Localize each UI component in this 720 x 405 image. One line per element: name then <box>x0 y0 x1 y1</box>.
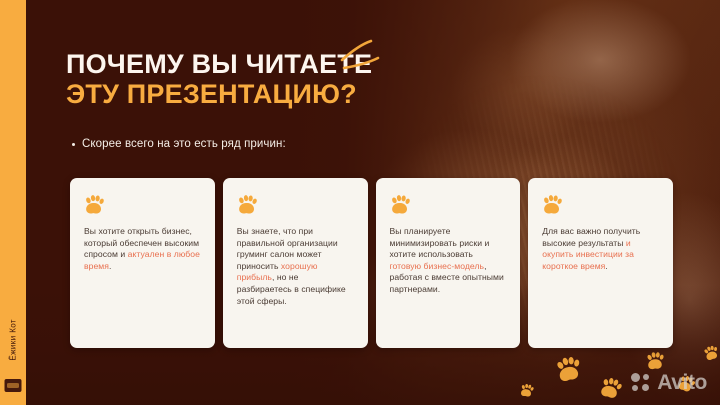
brand-vertical-label: Ёжики Кот <box>9 319 18 361</box>
reason-card-text: Вы знаете, что при правильной организаци… <box>237 226 354 307</box>
reason-card: Вы хотите открыть бизнес, который обеспе… <box>70 178 215 348</box>
reason-card: Для вас важно получить высокие результат… <box>528 178 673 348</box>
paw-print-icon <box>645 351 666 371</box>
reason-card-list: Вы хотите открыть бизнес, который обеспе… <box>70 178 673 348</box>
subtitle-bullet-row: Скорее всего на это есть ряд причин: <box>72 138 286 150</box>
subtitle-text: Скорее всего на это есть ряд причин: <box>82 138 286 150</box>
decorative-paw-print-icon <box>520 384 534 402</box>
presentation-slide: Ёжики Кот ПОЧЕМУ ВЫ ЧИТАЕТЕ ЭТУ ПРЕЗЕНТА… <box>0 0 720 405</box>
paw-print-icon <box>519 383 535 398</box>
paw-print-icon <box>237 195 258 215</box>
left-brand-rail: Ёжики Кот <box>0 0 26 405</box>
reason-card-text: Для вас важно получить высокие результат… <box>542 226 659 272</box>
reason-card-text: Вы планируете минимизировать риски и хот… <box>390 226 507 296</box>
paw-print-icon <box>554 355 585 385</box>
avito-logo-dots-icon <box>631 373 652 392</box>
reason-card: Вы планируете минимизировать риски и хот… <box>376 178 521 348</box>
paw-print-icon <box>598 376 624 402</box>
decorative-paw-print-icon <box>556 357 582 387</box>
avito-watermark: Avito <box>631 373 707 392</box>
headline-line-1: ПОЧЕМУ ВЫ ЧИТАЕТЕ <box>66 49 372 79</box>
paw-print-icon <box>84 195 105 215</box>
decorative-paw-print-icon <box>600 378 622 404</box>
paw-print-icon <box>390 195 411 215</box>
reason-card-text: Вы хотите открыть бизнес, который обеспе… <box>84 226 201 272</box>
reason-card-highlight: готовую бизнес-модель <box>390 261 485 271</box>
headline-line-2: ЭТУ ПРЕЗЕНТАЦИЮ? <box>66 79 372 109</box>
paw-print-icon <box>542 195 563 215</box>
avito-wordmark: Avito <box>657 373 707 392</box>
paw-print-icon <box>702 344 720 362</box>
reason-card-plain: . <box>605 261 607 271</box>
brand-mark-icon <box>5 379 22 392</box>
bullet-dot-icon <box>72 143 75 146</box>
reason-card: Вы знаете, что при правильной организаци… <box>223 178 368 348</box>
page-title: ПОЧЕМУ ВЫ ЧИТАЕТЕ ЭТУ ПРЕЗЕНТАЦИЮ? <box>66 49 372 109</box>
reason-card-plain: . <box>109 261 111 271</box>
decorative-paw-print-icon <box>704 346 719 365</box>
reason-card-plain: Вы планируете минимизировать риски и хот… <box>390 226 490 259</box>
